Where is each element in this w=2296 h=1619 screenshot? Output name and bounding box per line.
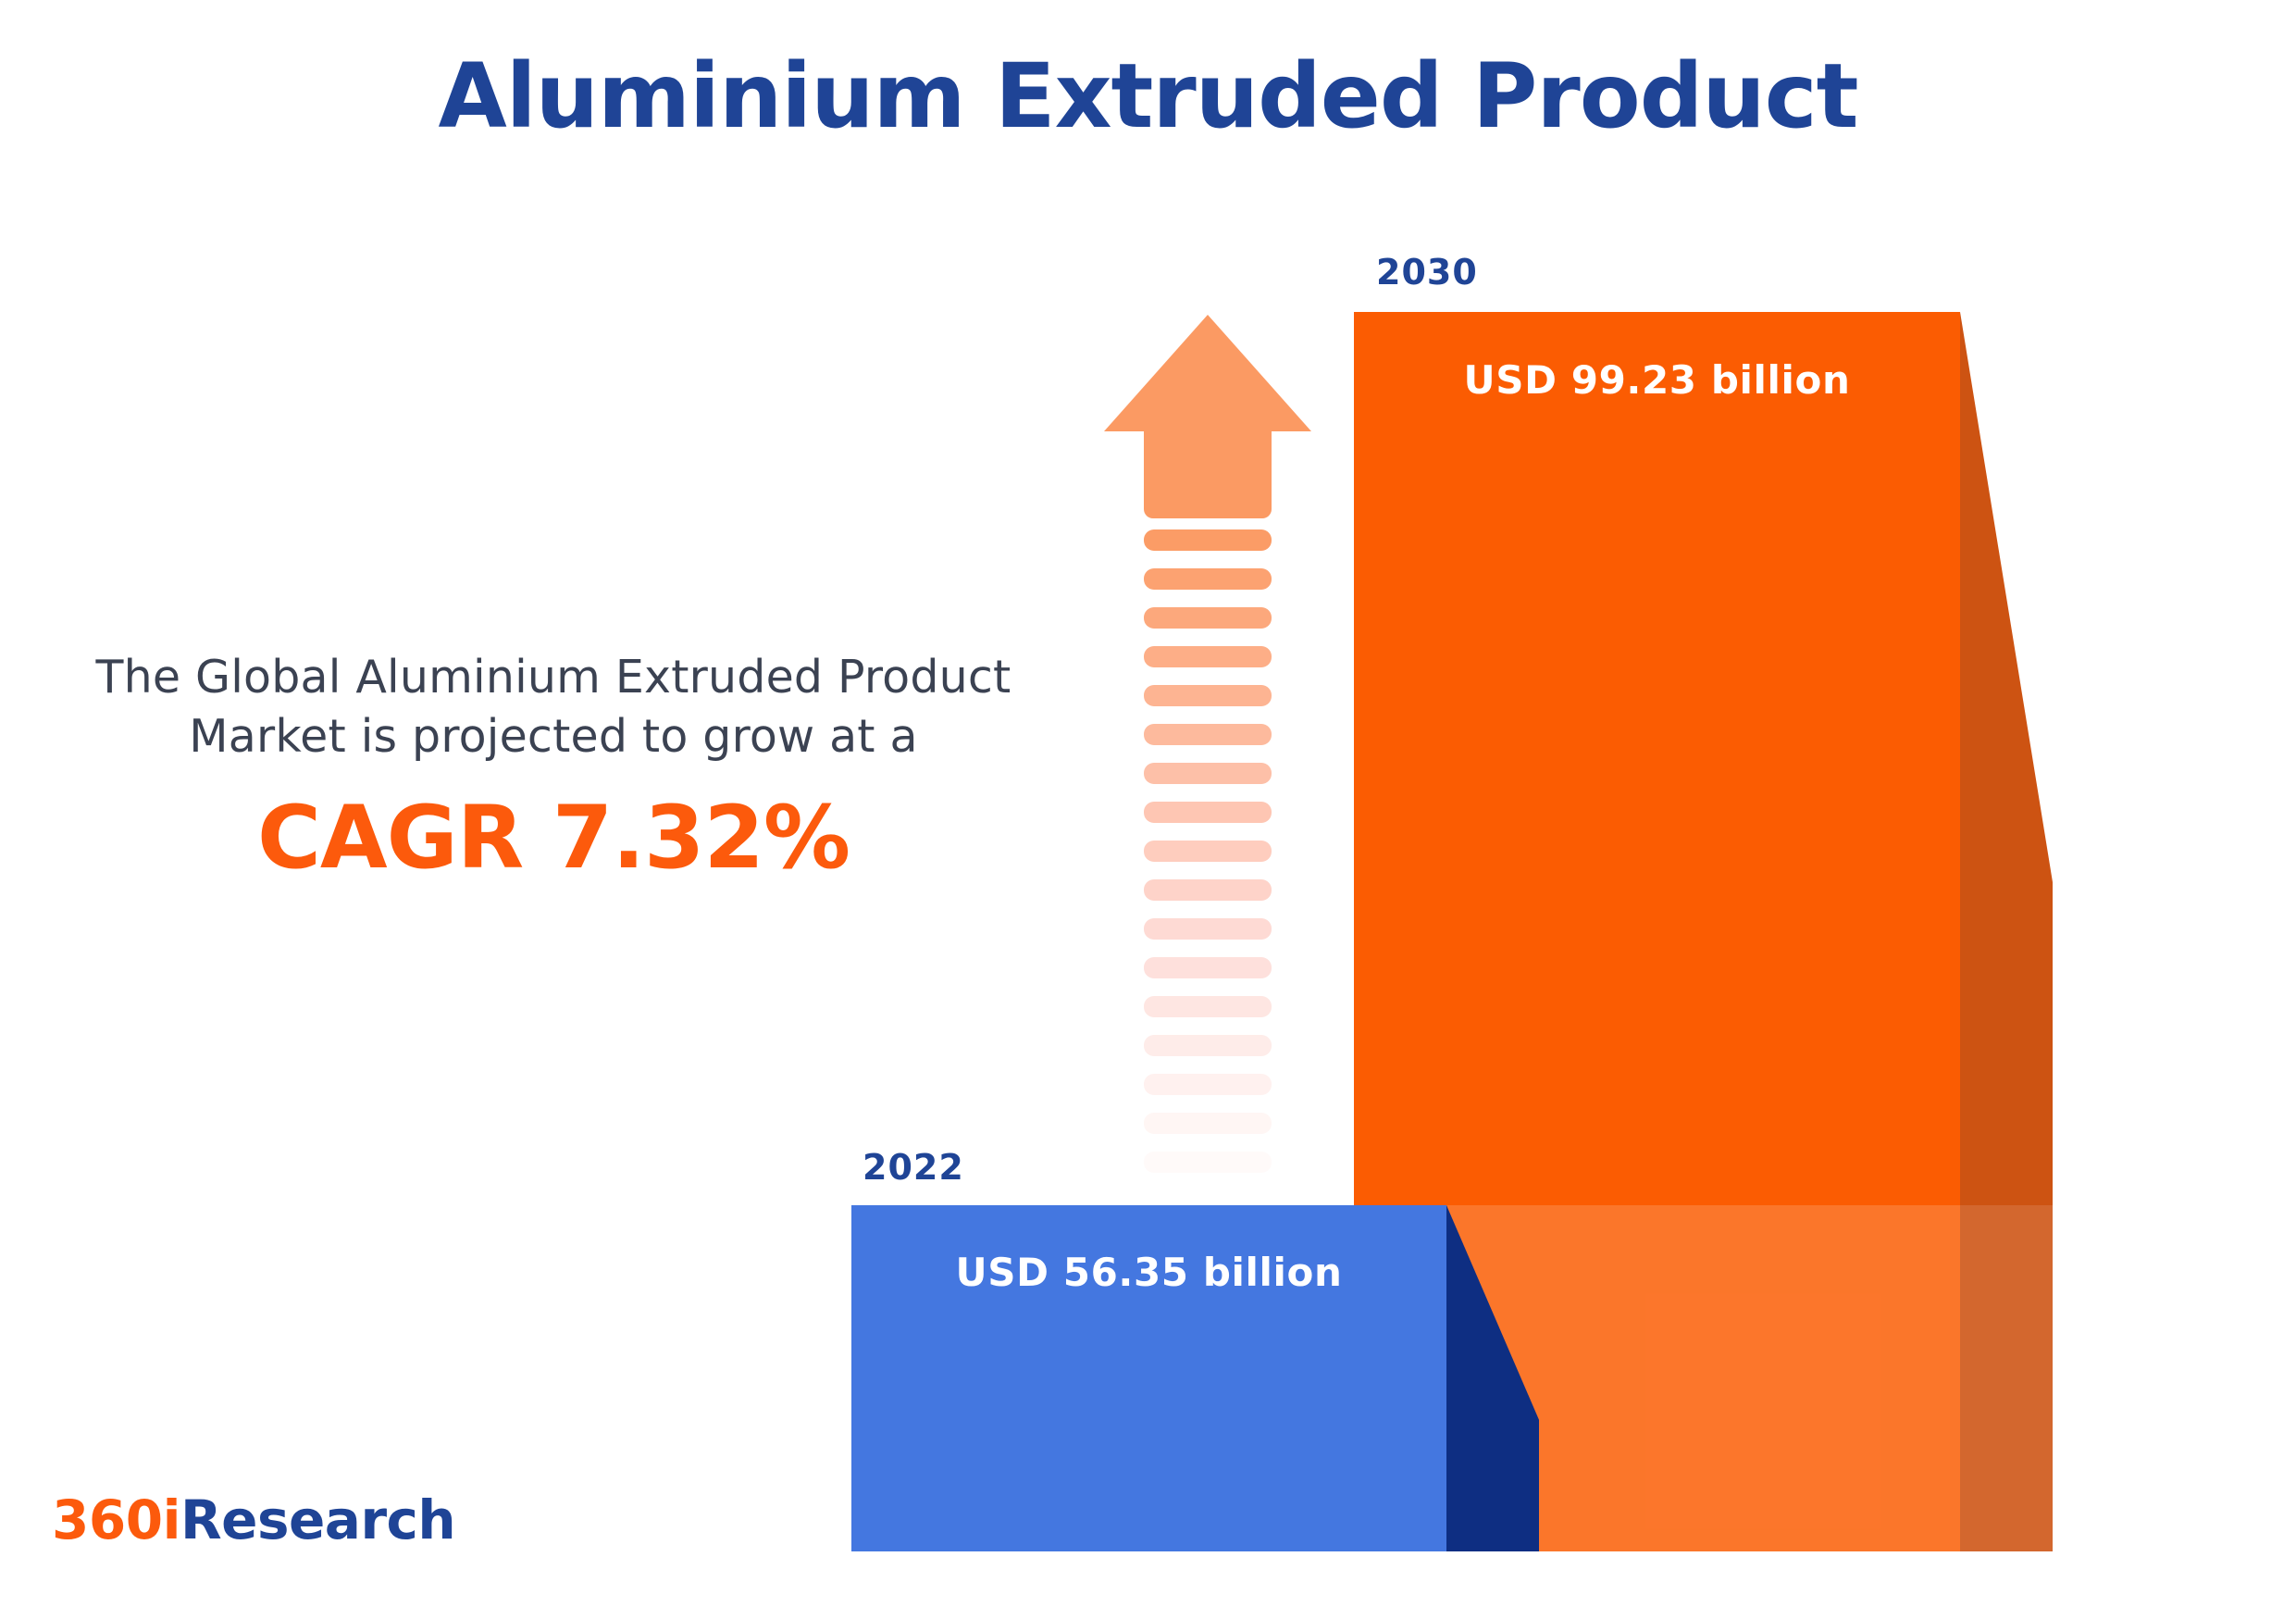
arrow-stripe-11 [1144,918,1272,940]
arrow-stripe-9 [1144,841,1272,862]
arrow-stripe-14 [1144,1035,1272,1056]
arrow-stripe-6 [1144,724,1272,745]
arrow-head-icon [1104,315,1311,431]
bar-2022-year-label: 2022 [863,1147,964,1188]
arrow-stripe-1 [1144,529,1272,551]
arrow-stripe-8 [1144,802,1272,823]
narrative-line-1: The Global Aluminium Extruded Product [44,648,1062,707]
arrow-stripe-5 [1144,685,1272,706]
arrow-stripe-16 [1144,1113,1272,1134]
narrative-block: The Global Aluminium Extruded Product Ma… [44,648,1062,889]
page-title: Aluminium Extruded Product [0,44,2296,148]
arrow-stripe-10 [1144,879,1272,901]
brand-logo-prefix: 360i [52,1488,180,1551]
bar-2030-value-label: USD 99.23 billion [1354,357,1960,403]
bar-2030-side-lower-wash [1960,1205,2053,1551]
arrow-stripe-4 [1144,646,1272,667]
narrative-line-2: Market is projected to grow at a [44,707,1062,766]
arrow-stripe-12 [1144,957,1272,978]
arrow-stripe-17 [1144,1152,1272,1173]
arrow-stripe-3 [1144,607,1272,629]
arrow-stripe-13 [1144,996,1272,1017]
bar-2030-year-label: 2030 [1376,252,1478,293]
cagr-highlight: CAGR 7.32% [44,788,1062,889]
brand-logo: 360iResearch [52,1488,455,1551]
arrow-stripe-15 [1144,1074,1272,1095]
brand-logo-suffix: Research [180,1488,455,1551]
arrow-stripe-2 [1144,568,1272,590]
growth-arrow-icon [1104,315,1311,1137]
bar-2022-value-label: USD 56.35 billion [851,1250,1446,1295]
arrow-stripe-7 [1144,763,1272,784]
arrow-shaft-icon [1144,426,1272,518]
infographic-canvas: Aluminium Extruded Product The Global Al… [0,0,2296,1619]
